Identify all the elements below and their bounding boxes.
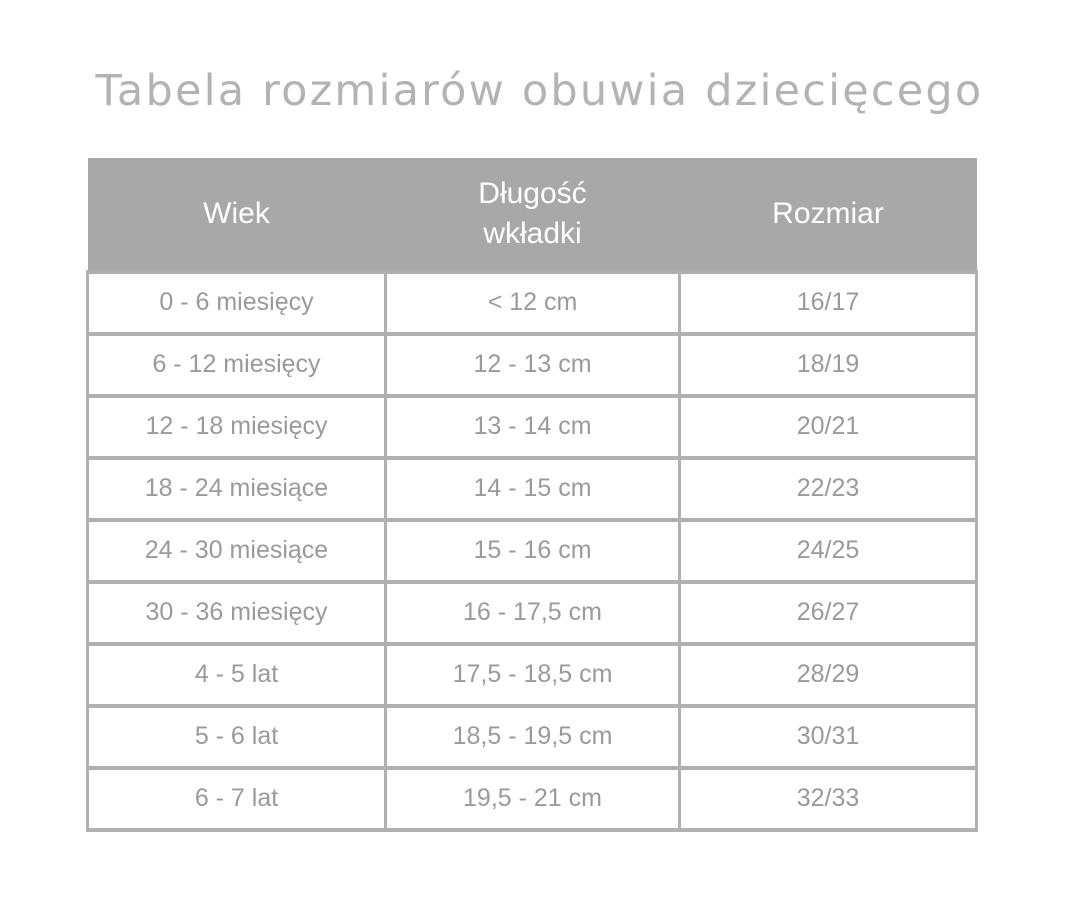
column-header-insole-length-label-line2: wkładki — [392, 214, 674, 254]
size-chart-container: Wiek Długość wkładki Rozmiar 0 - 6 miesi… — [86, 158, 975, 832]
cell-insole-length: 19,5 - 21 cm — [386, 768, 680, 830]
cell-insole-length: 18,5 - 19,5 cm — [386, 706, 680, 768]
header-row: Wiek Długość wkładki Rozmiar — [88, 158, 977, 272]
cell-age: 18 - 24 miesiące — [88, 458, 386, 520]
table-header: Wiek Długość wkładki Rozmiar — [88, 158, 977, 272]
cell-age: 6 - 7 lat — [88, 768, 386, 830]
column-header-age: Wiek — [88, 158, 386, 272]
cell-size: 26/27 — [680, 582, 977, 644]
cell-insole-length: 15 - 16 cm — [386, 520, 680, 582]
cell-age: 30 - 36 miesięcy — [88, 582, 386, 644]
cell-age: 6 - 12 miesięcy — [88, 334, 386, 396]
cell-age: 4 - 5 lat — [88, 644, 386, 706]
table-row: 18 - 24 miesiące14 - 15 cm22/23 — [88, 458, 977, 520]
column-header-insole-length-label-line1: Długość — [392, 174, 674, 214]
table-row: 6 - 7 lat19,5 - 21 cm32/33 — [88, 768, 977, 830]
cell-size: 20/21 — [680, 396, 977, 458]
cell-age: 5 - 6 lat — [88, 706, 386, 768]
table-row: 24 - 30 miesiące15 - 16 cm24/25 — [88, 520, 977, 582]
table-row: 30 - 36 miesięcy16 - 17,5 cm26/27 — [88, 582, 977, 644]
table-row: 4 - 5 lat17,5 - 18,5 cm28/29 — [88, 644, 977, 706]
cell-insole-length: < 12 cm — [386, 272, 680, 334]
cell-size: 22/23 — [680, 458, 977, 520]
cell-size: 18/19 — [680, 334, 977, 396]
cell-size: 32/33 — [680, 768, 977, 830]
cell-insole-length: 12 - 13 cm — [386, 334, 680, 396]
cell-size: 16/17 — [680, 272, 977, 334]
table-row: 6 - 12 miesięcy12 - 13 cm18/19 — [88, 334, 977, 396]
table-row: 0 - 6 miesięcy< 12 cm16/17 — [88, 272, 977, 334]
column-header-insole-length: Długość wkładki — [386, 158, 680, 272]
column-header-size: Rozmiar — [680, 158, 977, 272]
cell-insole-length: 17,5 - 18,5 cm — [386, 644, 680, 706]
column-header-age-label: Wiek — [94, 194, 380, 234]
column-header-size-label: Rozmiar — [686, 194, 971, 234]
cell-insole-length: 13 - 14 cm — [386, 396, 680, 458]
cell-insole-length: 16 - 17,5 cm — [386, 582, 680, 644]
table-row: 12 - 18 miesięcy13 - 14 cm20/21 — [88, 396, 977, 458]
cell-age: 0 - 6 miesięcy — [88, 272, 386, 334]
cell-size: 24/25 — [680, 520, 977, 582]
shoe-size-table: Wiek Długość wkładki Rozmiar 0 - 6 miesi… — [86, 158, 978, 832]
page-title: Tabela rozmiarów obuwia dziecięcego — [0, 67, 1079, 116]
cell-insole-length: 14 - 15 cm — [386, 458, 680, 520]
table-body: 0 - 6 miesięcy< 12 cm16/176 - 12 miesięc… — [88, 272, 977, 830]
cell-size: 30/31 — [680, 706, 977, 768]
table-row: 5 - 6 lat18,5 - 19,5 cm30/31 — [88, 706, 977, 768]
cell-age: 24 - 30 miesiące — [88, 520, 386, 582]
cell-size: 28/29 — [680, 644, 977, 706]
cell-age: 12 - 18 miesięcy — [88, 396, 386, 458]
